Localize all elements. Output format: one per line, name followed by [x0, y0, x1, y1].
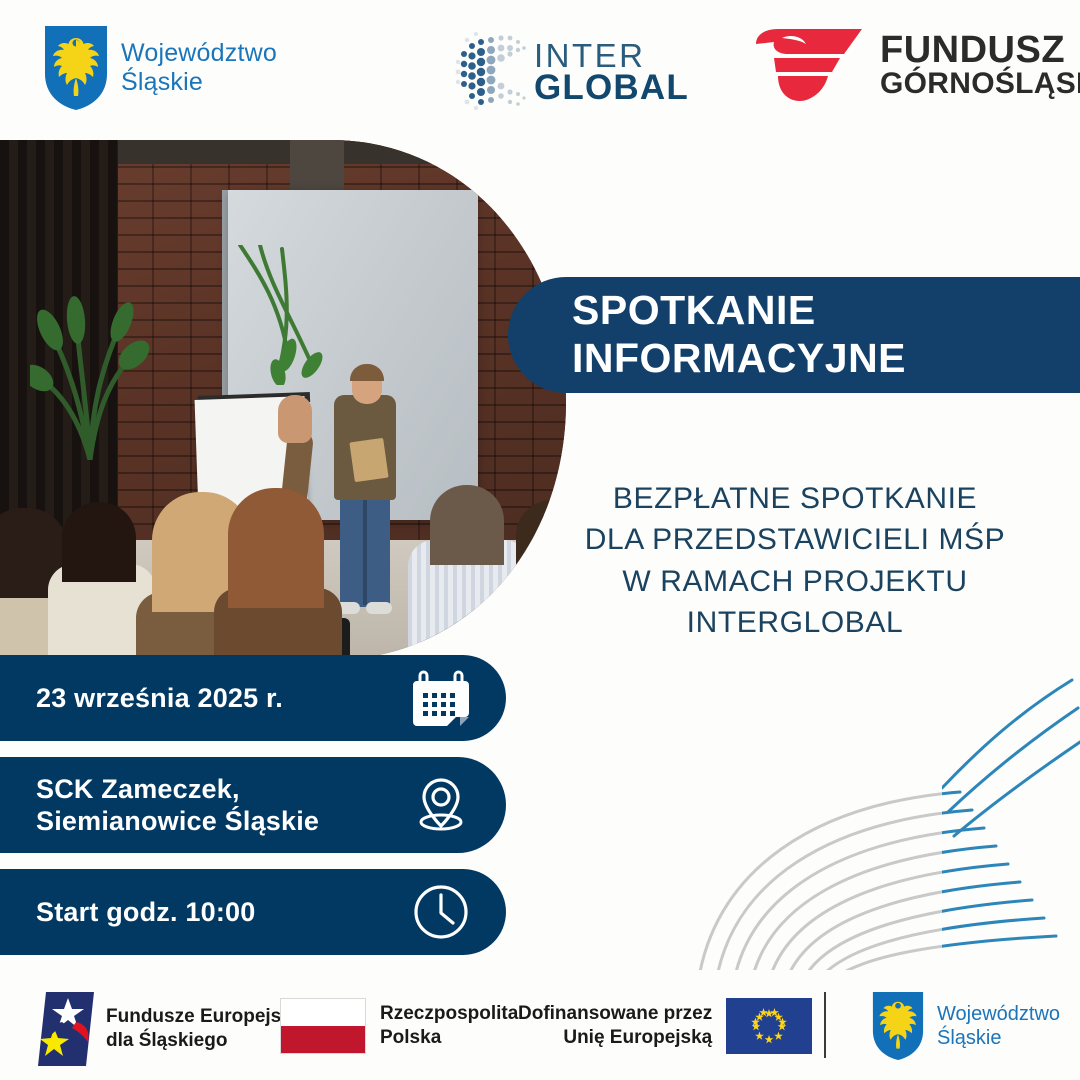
fingerprint-arc-pattern — [680, 672, 1080, 972]
title-line-1: SPOTKANIE — [572, 287, 906, 335]
page-title: SPOTKANIE INFORMACYJNE — [508, 287, 906, 382]
interglobal-logo-text: INTER GLOBAL — [534, 40, 689, 105]
footer-logo-bar: Fundusze Europejskie dla Śląskiego Rzecz… — [0, 970, 1080, 1080]
silesian-eagle-crest-icon — [45, 26, 107, 110]
info-pill-date: 23 września 2025 r. — [0, 655, 506, 741]
wojewodztwo-footer-text: Województwo Śląskie — [937, 1002, 1060, 1050]
polish-flag-icon — [280, 998, 366, 1054]
unia-europejska-text: Dofinansowane przez Unię Europejską — [518, 1002, 712, 1049]
eu-flag-icon — [726, 998, 812, 1054]
clock-icon — [410, 881, 472, 943]
date-label: 23 września 2025 r. — [36, 682, 283, 714]
subtitle-line-4: INTERGLOBAL — [540, 602, 1050, 643]
rzeczpospolita-polska-text: Rzeczpospolita Polska — [380, 1002, 518, 1049]
dotted-globe-icon — [450, 24, 538, 116]
interglobal-logo: INTER GLOBAL — [450, 24, 689, 116]
fundusz-gornoslaski-logo: FUNDUSZ GÓRNOŚLĄSKI — [752, 28, 1080, 102]
hero-photo — [0, 140, 600, 660]
footer-divider — [824, 992, 826, 1058]
rzeczpospolita-polska-logo: Rzeczpospolita Polska — [280, 998, 518, 1054]
wojewodztwo-slaskie-logo: Województwo Śląskie — [45, 26, 277, 110]
title-banner: SPOTKANIE INFORMACYJNE — [508, 277, 1080, 393]
title-line-2: INFORMACYJNE — [572, 335, 906, 383]
location-pin-icon — [410, 774, 472, 836]
silesian-eagle-crest-icon — [872, 992, 924, 1060]
poster-canvas: SPOTKANIE INFORMACYJNE BEZPŁATNE SPOTKAN… — [0, 0, 1080, 1080]
location-label: SCK Zameczek, Siemianowice Śląskie — [36, 773, 319, 838]
wojewodztwo-logo-text: Województwo Śląskie — [121, 39, 277, 98]
info-pill-list: 23 września 2025 r. — [0, 655, 460, 971]
header-logo-bar: Województwo Śląskie — [0, 0, 1080, 140]
time-label: Start godz. 10:00 — [36, 896, 255, 928]
subtitle-line-1: BEZPŁATNE SPOTKANIE — [540, 478, 1050, 519]
info-pill-location: SCK Zameczek, Siemianowice Śląskie — [0, 757, 506, 853]
unia-europejska-logo: Dofinansowane przez Unię Europejską — [518, 998, 812, 1054]
subtitle-line-3: W RAMACH PROJEKTU — [540, 561, 1050, 602]
wojewodztwo-slaskie-footer-logo: Województwo Śląskie — [872, 992, 1060, 1060]
fundusze-europejskie-text: Fundusze Europejskie dla Śląskiego — [106, 1005, 308, 1052]
info-pill-time: Start godz. 10:00 — [0, 869, 506, 955]
fundusz-logo-text: FUNDUSZ GÓRNOŚLĄSKI — [880, 31, 1080, 99]
fundusze-europejskie-logo: Fundusze Europejskie dla Śląskiego — [38, 992, 308, 1066]
subtitle-line-2: DLA PRZEDSTAWICIELI MŚP — [540, 519, 1050, 560]
calendar-icon — [410, 667, 472, 729]
fundusz-gornoslaski-swoosh-icon — [752, 28, 864, 102]
subtitle-block: BEZPŁATNE SPOTKANIE DLA PRZEDSTAWICIELI … — [540, 478, 1050, 644]
fundusze-europejskie-icon — [38, 992, 94, 1066]
